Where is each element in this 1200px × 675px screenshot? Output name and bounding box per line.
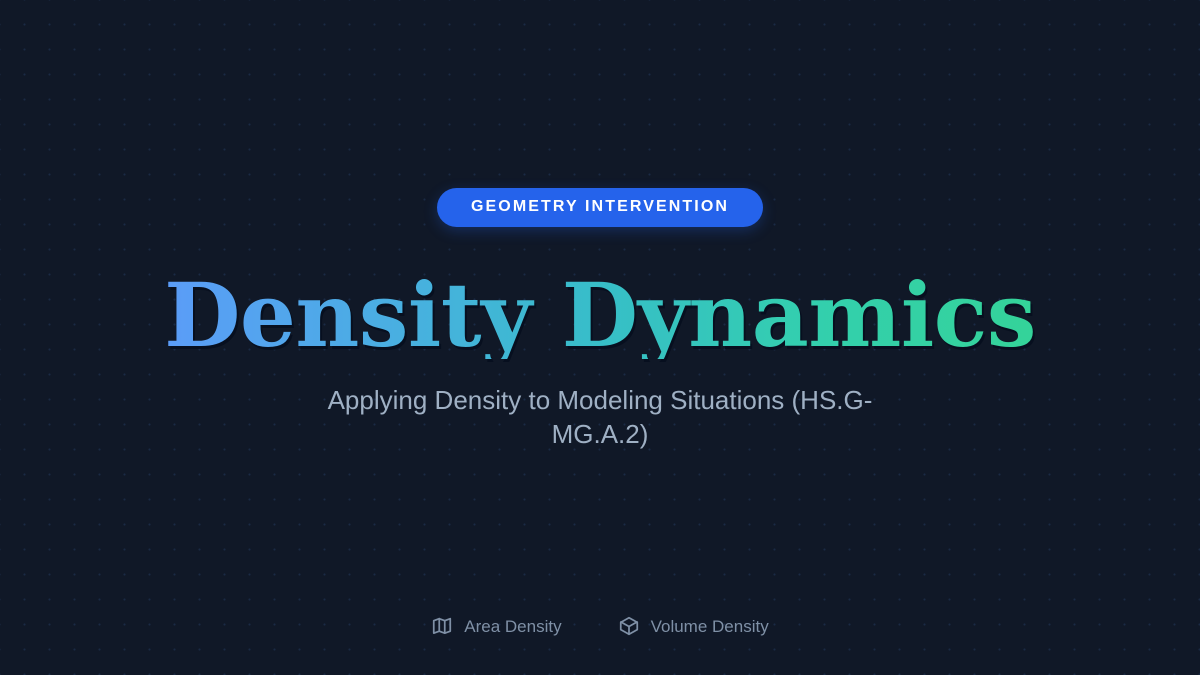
- footer-item-label: Area Density: [464, 618, 561, 635]
- footer-item-label: Volume Density: [651, 618, 769, 635]
- map-icon: [431, 615, 453, 637]
- footer-item-area-density: Area Density: [431, 615, 561, 637]
- title-slide: GEOMETRY INTERVENTION Density Dynamics A…: [0, 0, 1200, 675]
- box-icon: [618, 615, 640, 637]
- category-badge: GEOMETRY INTERVENTION: [437, 188, 763, 227]
- footer-item-volume-density: Volume Density: [618, 615, 769, 637]
- page-subtitle: Applying Density to Modeling Situations …: [320, 383, 880, 452]
- footer-meta: Area Density Volume Density: [0, 615, 1200, 637]
- slide-content: GEOMETRY INTERVENTION Density Dynamics A…: [0, 0, 1200, 675]
- page-title: Density Dynamics: [164, 271, 1036, 359]
